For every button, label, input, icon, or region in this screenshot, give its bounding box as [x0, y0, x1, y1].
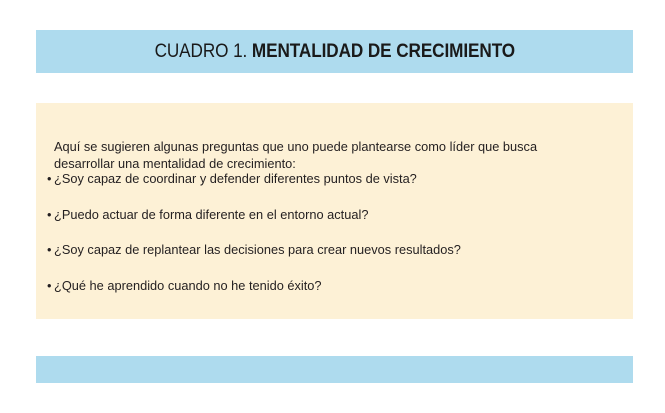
- intro-paragraph: Aquí se sugieren algunas preguntas que u…: [54, 138, 599, 173]
- list-item-label: ¿Qué he aprendido cuando no he tenido éx…: [54, 278, 622, 294]
- list-item-label: ¿Soy capaz de coordinar y defender difer…: [54, 171, 622, 187]
- bullet-icon: •: [47, 171, 54, 187]
- bullet-icon: •: [47, 242, 54, 258]
- question-list: • ¿Soy capaz de coordinar y defender dif…: [47, 171, 622, 313]
- bullet-icon: •: [47, 278, 54, 294]
- figure-footer-bar: [36, 356, 633, 383]
- list-item-label: ¿Puedo actuar de forma diferente en el e…: [54, 207, 622, 223]
- list-item-label: ¿Soy capaz de replantear las decisiones …: [54, 242, 622, 258]
- figure-title-main: MENTALIDAD DE CRECIMIENTO: [252, 40, 515, 62]
- figure-title-prefix: CUADRO 1.: [154, 40, 251, 62]
- list-item: • ¿Soy capaz de replantear las decisione…: [47, 242, 622, 258]
- figure-content-panel: Aquí se sugieren algunas preguntas que u…: [36, 103, 633, 319]
- figure-title: CUADRO 1. MENTALIDAD DE CRECIMIENTO: [154, 40, 514, 63]
- bullet-icon: •: [47, 207, 54, 223]
- figure-title-bar: CUADRO 1. MENTALIDAD DE CRECIMIENTO: [36, 30, 633, 73]
- figure-cuadro-1: CUADRO 1. MENTALIDAD DE CRECIMIENTO Aquí…: [0, 0, 665, 413]
- list-item: • ¿Qué he aprendido cuando no he tenido …: [47, 278, 622, 294]
- list-item: • ¿Soy capaz de coordinar y defender dif…: [47, 171, 622, 187]
- list-item: • ¿Puedo actuar de forma diferente en el…: [47, 207, 622, 223]
